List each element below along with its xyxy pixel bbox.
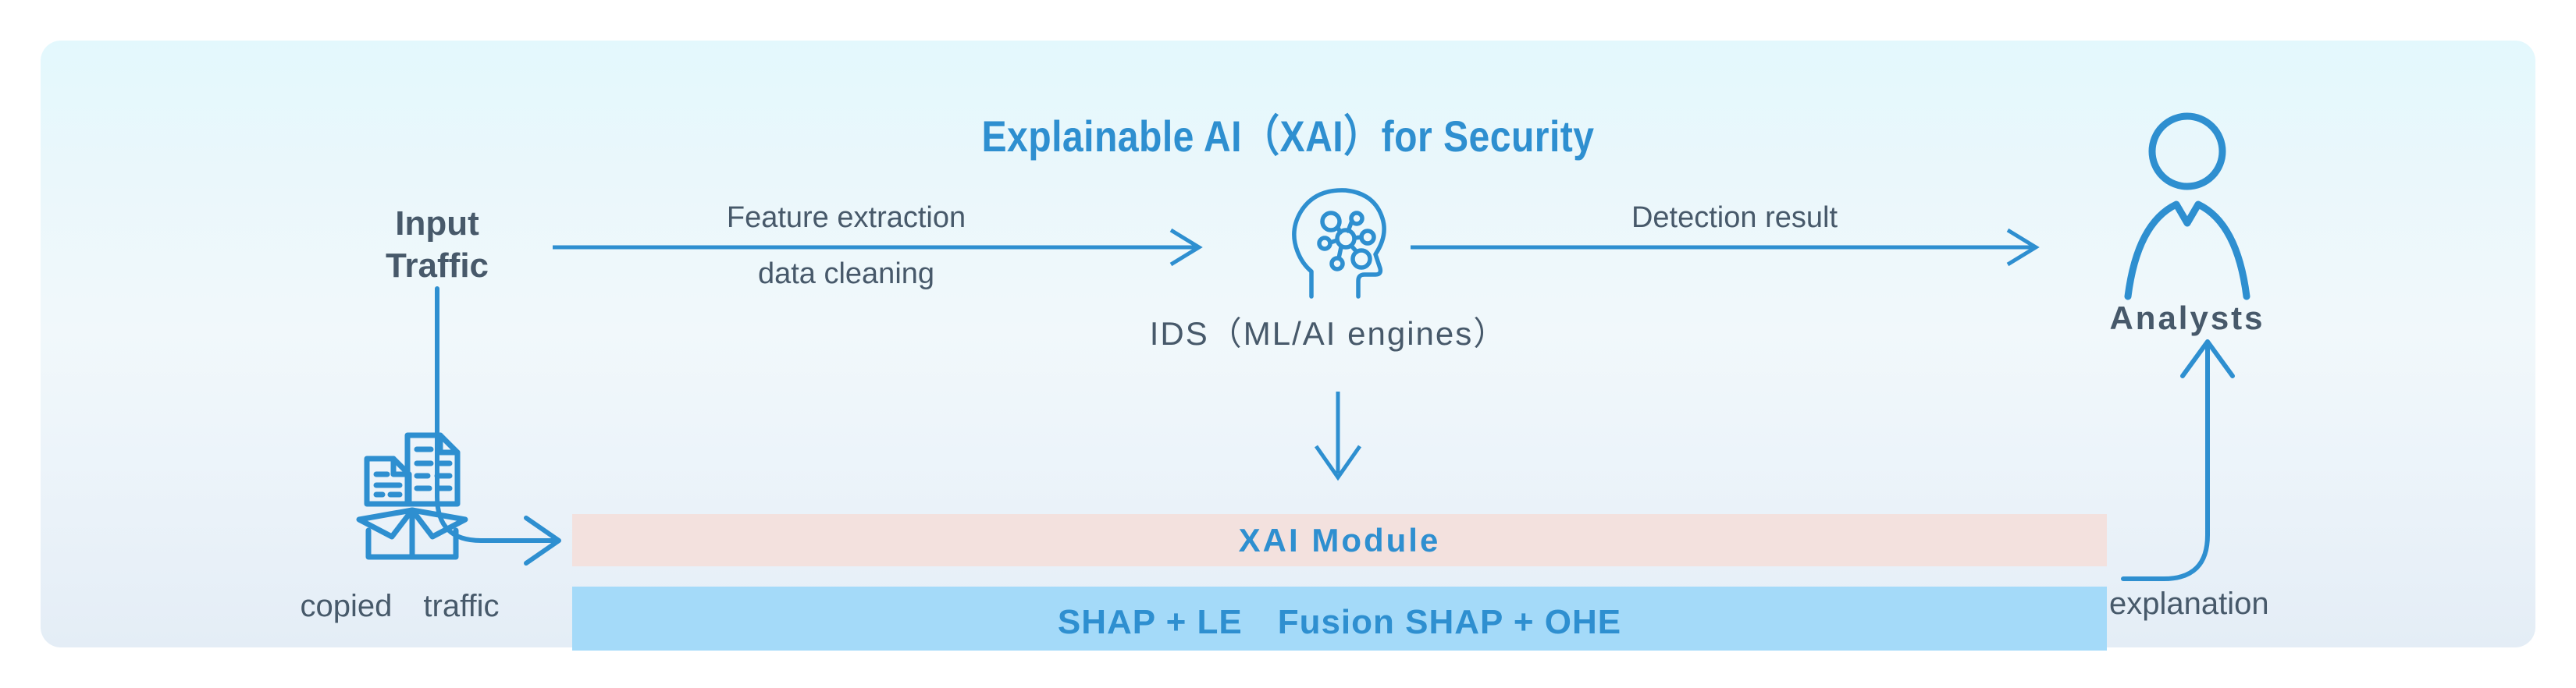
arrow-ids-to-xai — [1316, 392, 1360, 477]
open-box-documents-icon — [336, 415, 492, 571]
brain-head-neural-network-icon — [1271, 183, 1411, 300]
arrow-input-to-ids — [553, 230, 1199, 264]
arrow-ids-to-analysts — [1411, 230, 2036, 264]
diagram-panel: Explainable AI（XAI）for Security Input Tr… — [41, 41, 2535, 647]
arrow-xai-to-analysts — [2123, 342, 2233, 579]
person-icon — [2101, 105, 2273, 300]
diagram-canvas: Explainable AI（XAI）for Security Input Tr… — [0, 0, 2576, 688]
